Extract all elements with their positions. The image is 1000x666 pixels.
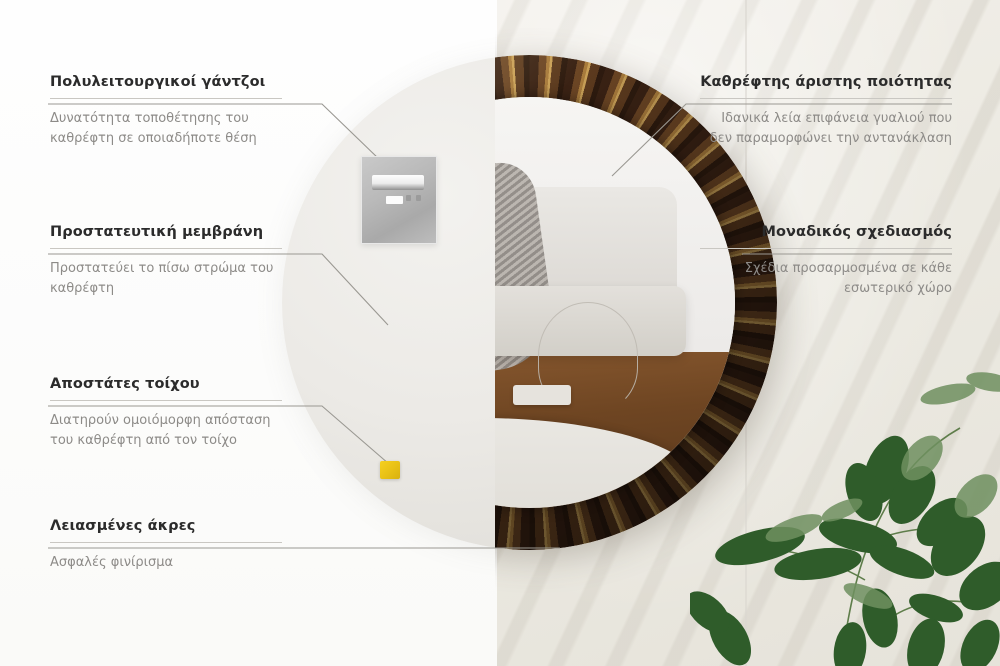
callout-design-rule — [700, 248, 952, 249]
callout-edges-description: Ασφαλές φινίρισμα — [50, 553, 282, 573]
callout-hooks-title: Πολυλειτουργικοί γάντζοι — [50, 74, 282, 90]
callout-edges: Λειασμένες άκρες Ασφαλές φινίρισμα — [50, 518, 282, 573]
callout-design-title: Μοναδικός σχεδιασμός — [700, 224, 952, 240]
product-feature-infographic: Πολυλειτουργικοί γάντζοι Δυνατότητα τοπο… — [0, 0, 1000, 666]
callout-design-description: Σχέδια προσαρμοσμένα σε κάθε εσωτερικό χ… — [700, 259, 952, 298]
callout-membrane-description: Προστατεύει το πίσω στρώμα του καθρέφτη — [50, 259, 282, 298]
callout-hooks-rule — [50, 98, 282, 99]
hook-nub-right — [416, 195, 421, 201]
callout-membrane-title: Προστατευτική μεμβράνη — [50, 224, 282, 240]
wall-hook-detail — [361, 156, 437, 244]
callout-quality: Καθρέφτης άριστης ποιότητας Ιδανικά λεία… — [700, 74, 952, 148]
hook-bracket-icon — [372, 175, 424, 190]
reflected-side-table — [513, 385, 571, 406]
hook-nub-left — [406, 195, 411, 201]
callout-membrane: Προστατευτική μεμβράνη Προστατεύει το πί… — [50, 224, 282, 298]
hook-slot — [386, 196, 403, 204]
callout-quality-rule — [700, 98, 952, 99]
callout-spacers-description: Διατηρούν ομοιόμορφη απόσταση του καθρέφ… — [50, 411, 282, 450]
callout-spacers-rule — [50, 400, 282, 401]
callout-hooks: Πολυλειτουργικοί γάντζοι Δυνατότητα τοπο… — [50, 74, 282, 148]
callout-edges-title: Λειασμένες άκρες — [50, 518, 282, 534]
callout-design: Μοναδικός σχεδιασμός Σχέδια προσαρμοσμέν… — [700, 224, 952, 298]
callout-hooks-description: Δυνατότητα τοποθέτησης του καθρέφτη σε ο… — [50, 109, 282, 148]
callout-spacers: Αποστάτες τοίχου Διατηρούν ομοιόμορφη απ… — [50, 376, 282, 450]
callout-quality-title: Καθρέφτης άριστης ποιότητας — [700, 74, 952, 90]
decorative-plant — [690, 350, 1000, 666]
callout-membrane-rule — [50, 248, 282, 249]
callout-edges-rule — [50, 542, 282, 543]
wall-spacer-detail — [380, 461, 400, 479]
callout-spacers-title: Αποστάτες τοίχου — [50, 376, 282, 392]
callout-quality-description: Ιδανικά λεία επιφάνεια γυαλιού που δεν π… — [700, 109, 952, 148]
